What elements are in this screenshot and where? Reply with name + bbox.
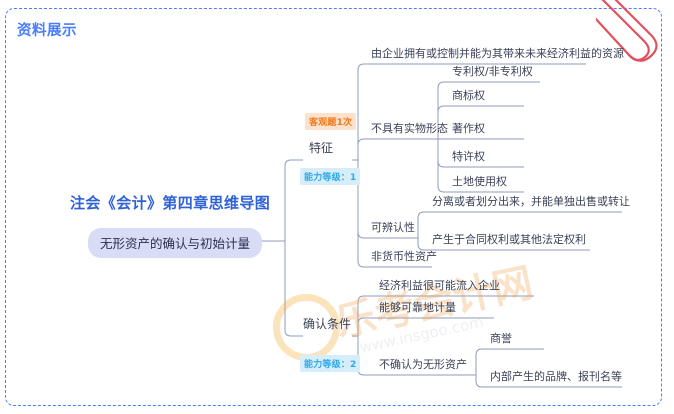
mindmap-root-node[interactable]: 无形资产的确认与初始计量: [88, 228, 262, 258]
page-title: 资料展示: [17, 19, 77, 40]
screenshot-root: 乐考会计网 www.insgoo.com 资料展示 注会《会计》第四章思维导图 …: [0, 0, 674, 414]
badge-ability-level-2: 能力等级：2: [300, 355, 360, 372]
leaf-node-internal-brands[interactable]: 内部产生的品牌、报刊名等: [490, 371, 622, 384]
leaf-node-definition[interactable]: 由企业拥有或控制并能为其带来未来经济利益的资源: [371, 48, 624, 61]
leaf-node-no-physical-form[interactable]: 不具有实物形态: [371, 123, 448, 136]
leaf-node-copyright[interactable]: 著作权: [452, 123, 485, 136]
leaf-node-separable[interactable]: 分离或者划分出来，并能单独出售或转让: [432, 196, 630, 209]
leaf-node-contractual-rights[interactable]: 产生于合同权利或其他法定权利: [432, 234, 586, 247]
leaf-node-identifiability[interactable]: 可辨认性: [371, 222, 415, 235]
leaf-node-non-monetary-asset[interactable]: 非货币性资产: [371, 251, 437, 264]
branch-node-recognition-criteria[interactable]: 确认条件: [303, 318, 351, 332]
mindmap-title: 注会《会计》第四章思维导图: [70, 192, 270, 213]
leaf-node-goodwill[interactable]: 商誉: [490, 333, 512, 346]
watermark-url: www.insgoo.com: [358, 313, 485, 357]
leaf-node-probable-benefit[interactable]: 经济利益很可能流入企业: [379, 280, 500, 293]
badge-objective-count: 客观题1次: [305, 113, 356, 130]
leaf-node-franchise[interactable]: 特许权: [452, 151, 485, 164]
leaf-node-land-use-right[interactable]: 土地使用权: [452, 176, 507, 189]
leaf-node-not-recognized[interactable]: 不确认为无形资产: [379, 359, 467, 372]
leaf-node-patent-rights[interactable]: 专利权/非专利权: [452, 66, 533, 79]
branch-node-characteristics[interactable]: 特征: [309, 142, 333, 156]
leaf-node-reliable-measurement[interactable]: 能够可靠地计量: [379, 302, 456, 315]
leaf-node-trademark[interactable]: 商标权: [452, 90, 485, 103]
badge-ability-level-1: 能力等级：1: [300, 168, 360, 185]
